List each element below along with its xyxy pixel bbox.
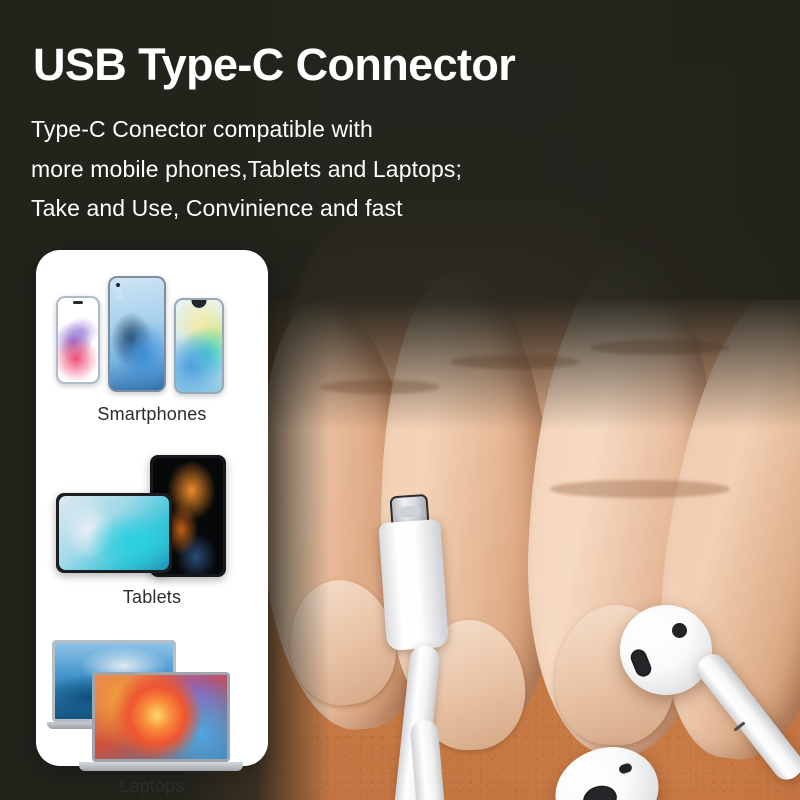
waterdrop-notch-icon <box>192 300 207 308</box>
page-title: USB Type-C Connector <box>33 40 733 90</box>
phone-screen <box>176 300 222 392</box>
smartphone-illustrations: 15 50 <box>36 264 268 404</box>
compatibility-card: 15 50 Smartphones <box>36 250 268 766</box>
tablet-illustrations <box>36 445 268 587</box>
earbud-sensor-port <box>672 623 687 638</box>
phone-clock: 15 50 <box>116 289 122 301</box>
tablet-device-landscape <box>56 493 172 573</box>
phone-screen <box>58 298 98 382</box>
phone-screen: 15 50 <box>110 278 164 390</box>
front-camera-icon <box>73 301 83 304</box>
punch-hole-camera-icon <box>116 283 120 287</box>
category-tablets: Tablets <box>36 445 268 608</box>
category-label-tablets: Tablets <box>36 587 268 608</box>
subtitle-block: Type-C Conector compatible with more mob… <box>31 110 651 229</box>
category-smartphones: 15 50 Smartphones <box>36 264 268 425</box>
subtitle-line-1: Type-C Conector compatible with <box>31 110 651 150</box>
smartphone-device <box>174 298 224 394</box>
laptop-base <box>79 762 243 771</box>
smartphone-device: 15 50 <box>108 276 166 392</box>
laptop-screen <box>92 672 230 762</box>
laptop-illustrations <box>36 626 268 776</box>
category-laptops: Laptops <box>36 626 268 797</box>
tablet-screen <box>59 496 169 570</box>
laptop-device-front <box>92 672 243 771</box>
clock-minute: 50 <box>116 295 122 301</box>
category-label-smartphones: Smartphones <box>36 404 268 425</box>
earbud-secondary <box>545 748 715 800</box>
product-marketing-image: USB Type-C Connector Type-C Conector com… <box>0 0 800 800</box>
subtitle-line-3: Take and Use, Convinience and fast <box>31 189 651 229</box>
smartphone-device <box>56 296 100 384</box>
skin-crease <box>550 480 730 498</box>
subtitle-line-2: more mobile phones,Tablets and Laptops; <box>31 150 651 190</box>
usb-c-housing <box>378 519 449 651</box>
category-label-laptops: Laptops <box>36 776 268 797</box>
